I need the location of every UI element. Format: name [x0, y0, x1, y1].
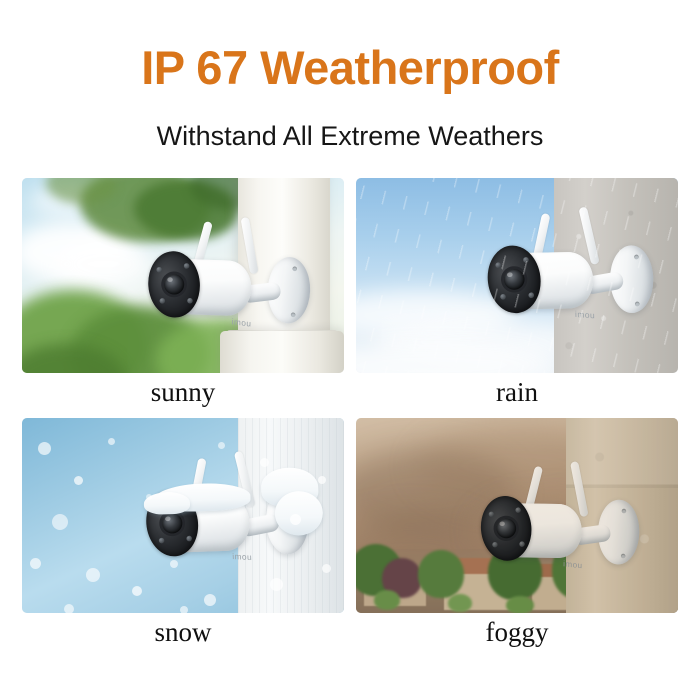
weather-panel-grid: imou sunny — [22, 178, 678, 613]
camera-lens — [163, 274, 185, 296]
snowflake — [74, 476, 83, 485]
ir-led — [158, 537, 164, 543]
snowflake — [86, 568, 100, 582]
panel-snow: imou — [22, 418, 344, 613]
snowflake — [180, 606, 188, 613]
rain-streaks — [356, 178, 678, 373]
camera-lens — [161, 512, 184, 535]
snowflake — [132, 586, 142, 596]
panel-caption-sunny: sunny — [22, 374, 344, 410]
dust-tint — [356, 418, 678, 613]
marketing-banner: IP 67 Weatherproof Withstand All Extreme… — [0, 0, 700, 700]
ir-led — [184, 263, 190, 269]
panel-caption-rain: rain — [356, 374, 678, 410]
snowflake — [218, 442, 225, 449]
photo-foggy: imou — [356, 418, 678, 613]
snowflake — [260, 458, 269, 467]
ir-led — [156, 267, 162, 273]
snowflake — [108, 438, 115, 445]
security-camera: imou — [126, 460, 315, 604]
panel-foggy: imou foggy — [356, 418, 678, 613]
brand-label: imou — [232, 317, 252, 329]
security-camera: imou — [127, 224, 316, 368]
snowflake — [38, 442, 51, 455]
snowflake — [204, 594, 216, 606]
photo-rain: imou — [356, 178, 678, 373]
panel-sunny: imou sunny — [22, 178, 344, 373]
snowflake — [30, 558, 41, 569]
ir-led — [159, 298, 165, 304]
snowflake — [52, 514, 68, 530]
snowflake — [170, 560, 178, 568]
panel-caption-snow: snow — [22, 614, 344, 650]
snowflake — [322, 564, 331, 573]
snowflake — [146, 494, 152, 500]
ir-led — [187, 298, 193, 304]
page-title: IP 67 Weatherproof — [0, 42, 700, 94]
photo-snow: imou — [22, 418, 344, 613]
snowflake — [318, 476, 326, 484]
panel-rain: imou rain — [356, 178, 678, 373]
panel-caption-foggy: foggy — [356, 614, 678, 650]
snowflake — [64, 604, 74, 613]
photo-sunny: imou — [22, 178, 344, 373]
snowflake — [290, 514, 301, 525]
page-subtitle: Withstand All Extreme Weathers — [0, 122, 700, 152]
brand-label: imou — [232, 552, 252, 562]
snowflake — [270, 578, 283, 591]
ir-led — [186, 535, 192, 541]
